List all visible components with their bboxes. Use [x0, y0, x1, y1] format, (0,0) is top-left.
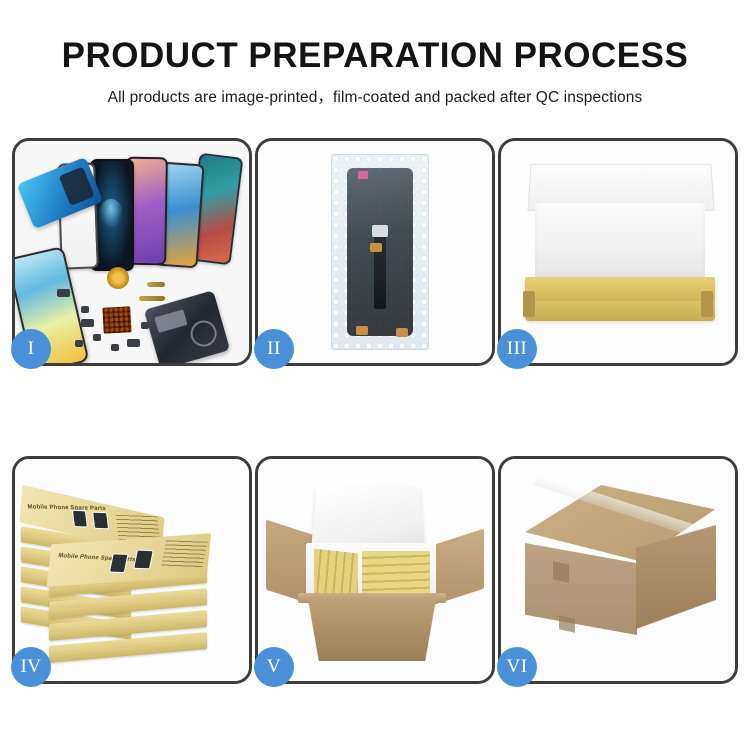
bubble-wrap-bag: [331, 154, 429, 350]
process-step-panel-6: VI: [498, 456, 738, 684]
packed-boxes-right: [362, 551, 430, 597]
flex-cable-part: [139, 296, 165, 301]
box-spec-lines: [161, 540, 208, 568]
pink-qc-sticker: [358, 171, 368, 179]
small-part: [93, 334, 101, 341]
process-step-panel-5: V: [255, 456, 495, 684]
carton-front-face: [525, 543, 637, 635]
small-part: [57, 289, 70, 297]
page-title: PRODUCT PREPARATION PROCESS: [0, 36, 750, 76]
small-part: [75, 340, 83, 347]
carton-flap-seam: [559, 615, 575, 632]
product-preparation-infographic: PRODUCT PREPARATION PROCESS All products…: [0, 0, 750, 750]
box-corner-tab: [523, 291, 535, 317]
step-badge-4: IV: [11, 647, 51, 687]
process-steps-grid: I II: [12, 138, 738, 684]
box-stack: Mobile Phone Spare Parts Mobile Phone Sp…: [21, 477, 245, 673]
orange-tape: [396, 328, 408, 337]
box-product-window: [72, 510, 88, 528]
flex-cable-part: [147, 282, 165, 287]
foam-lid: [311, 487, 424, 546]
step-4-image: Mobile Phone Spare Parts Mobile Phone Sp…: [15, 459, 249, 681]
step-badge-6: VI: [497, 647, 537, 687]
small-part: [111, 344, 119, 351]
box-product-window: [92, 512, 109, 530]
process-step-panel-3: III: [498, 138, 738, 366]
step-5-image: [258, 459, 492, 681]
copper-coil-part: [107, 267, 129, 289]
orange-tape: [370, 243, 382, 252]
box-product-window: [133, 550, 154, 570]
box-product-window: [109, 553, 129, 573]
step-badge-1: I: [11, 329, 51, 369]
lcd-connector: [372, 225, 388, 237]
small-part: [81, 306, 89, 313]
process-step-panel-4: Mobile Phone Spare Parts Mobile Phone Sp…: [12, 456, 252, 684]
jellyfish-wallpaper: [99, 199, 123, 229]
carton-body: [302, 597, 442, 661]
kraft-box-front: [525, 301, 715, 321]
step-6-image: [501, 459, 735, 681]
process-step-panel-1: I: [12, 138, 252, 366]
header: PRODUCT PREPARATION PROCESS All products…: [0, 0, 750, 107]
step-badge-3: III: [497, 329, 537, 369]
small-part: [127, 339, 140, 347]
step-badge-5: V: [254, 647, 294, 687]
small-part: [81, 319, 94, 327]
chip-array-part: [102, 306, 131, 333]
white-foam-sheet: [535, 203, 705, 279]
phone-motherboard: [144, 290, 230, 363]
orange-tape: [356, 326, 368, 335]
lcd-flex-cable: [374, 229, 386, 309]
step-badge-2: II: [254, 329, 294, 369]
packed-boxes-left: [314, 549, 358, 600]
box-corner-tab: [701, 291, 713, 317]
step-1-image: [15, 141, 249, 363]
process-step-panel-2: II: [255, 138, 495, 366]
small-part: [141, 322, 149, 329]
carton-flap-seam: [553, 561, 569, 582]
step-3-image: [501, 141, 735, 363]
page-subtitle: All products are image-printed，film-coat…: [0, 85, 750, 107]
step-2-image: [258, 141, 492, 363]
